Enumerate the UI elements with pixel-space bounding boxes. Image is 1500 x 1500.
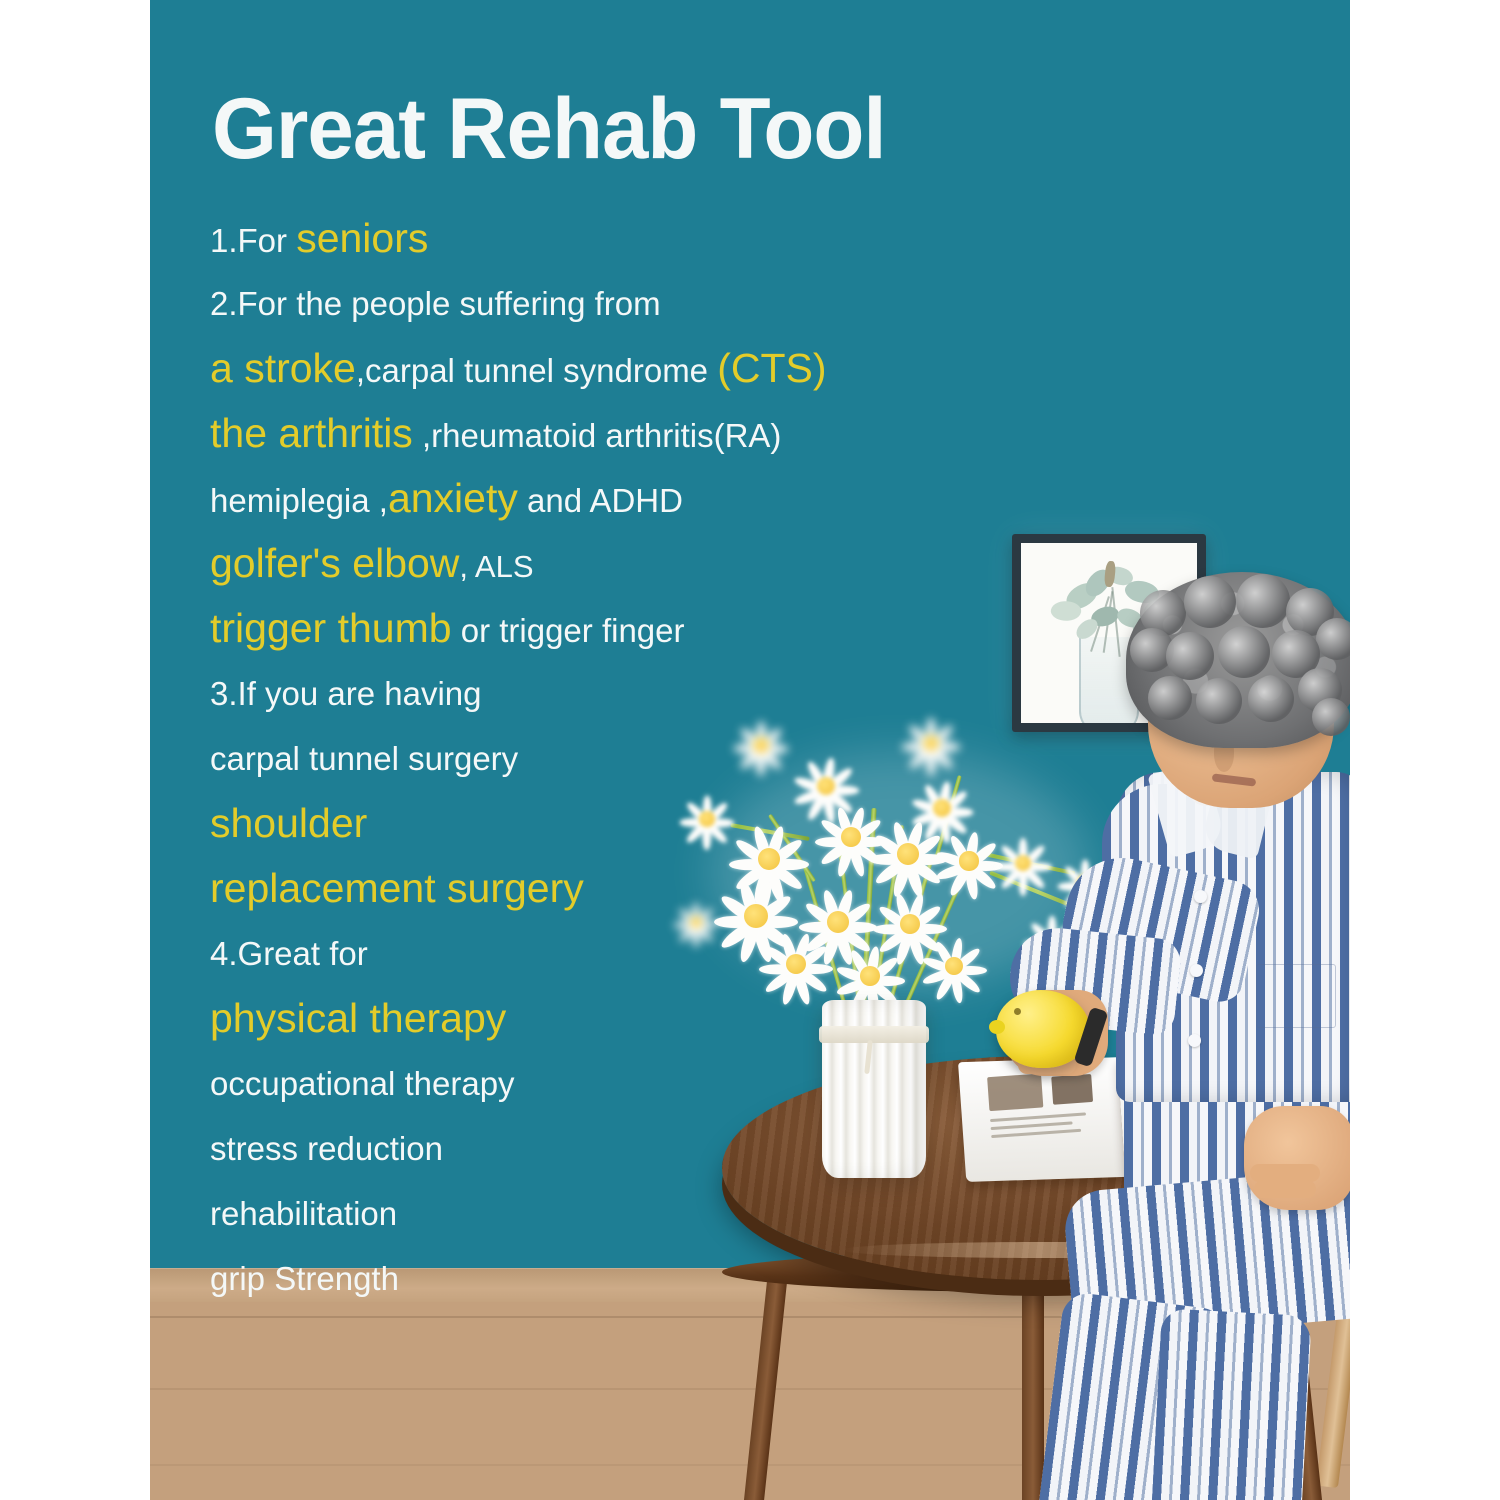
body-text: occupational therapy <box>210 1065 515 1102</box>
right-hand <box>1244 1106 1350 1210</box>
lemon-eye-dot <box>1014 1008 1021 1015</box>
white-ribbed-vase <box>822 1000 926 1178</box>
daisy <box>900 712 962 774</box>
shirt-button <box>1194 890 1207 903</box>
shirt-button <box>1190 964 1203 977</box>
body-text: or trigger finger <box>452 612 685 649</box>
line-3: a stroke,carpal tunnel syndrome (CTS) <box>210 336 990 401</box>
body-text: 2.For the people suffering from <box>210 285 661 322</box>
body-text: , ALS <box>459 549 533 584</box>
curly-gray-hair <box>1126 572 1350 748</box>
highlight-phrase: a stroke <box>210 345 356 391</box>
daisy <box>672 898 720 946</box>
body-text: ,rheumatoid arthritis(RA) <box>413 417 782 454</box>
body-text: 3.If you are having <box>210 675 482 712</box>
highlight-phrase: the arthritis <box>210 410 413 456</box>
body-text: carpal tunnel surgery <box>210 740 518 777</box>
page-title: Great Rehab Tool <box>212 86 1182 172</box>
highlight-phrase: shoulder <box>210 800 367 846</box>
daisy <box>918 930 990 1002</box>
body-text: stress reduction <box>210 1130 443 1167</box>
body-text: 4.Great for <box>210 935 368 972</box>
body-text: 1.For <box>210 222 296 259</box>
poster-canvas: Great Rehab Tool 1.For seniors2.For the … <box>0 0 1500 1500</box>
line-6: golfer's elbow, ALS <box>210 531 990 596</box>
body-text: rehabilitation <box>210 1195 397 1232</box>
highlight-phrase: replacement surgery <box>210 865 584 911</box>
highlight-phrase: anxiety <box>388 475 518 521</box>
pajama-shin <box>1146 1308 1311 1500</box>
highlight-phrase: golfer's elbow <box>210 540 459 586</box>
table-leg <box>739 1271 788 1500</box>
line-2: 2.For the people suffering from <box>210 271 990 336</box>
lemon-tip <box>989 1020 1005 1034</box>
line-1: 1.For seniors <box>210 206 990 271</box>
highlight-phrase: (CTS) <box>717 345 826 391</box>
body-text: and ADHD <box>518 482 683 519</box>
highlight-phrase: trigger thumb <box>210 605 452 651</box>
vase-fabric-tie <box>819 1026 929 1043</box>
daisy <box>756 924 836 1004</box>
body-text: hemiplegia , <box>210 482 388 519</box>
body-text: ,carpal tunnel syndrome <box>356 352 717 389</box>
line-4: the arthritis ,rheumatoid arthritis(RA) <box>210 401 990 466</box>
highlight-phrase: physical therapy <box>210 995 506 1041</box>
shirt-pocket <box>1256 964 1336 1028</box>
line-7: trigger thumb or trigger finger <box>210 596 990 661</box>
line-5: hemiplegia ,anxiety and ADHD <box>210 466 990 531</box>
shirt-button <box>1188 1034 1201 1047</box>
highlight-phrase: seniors <box>296 215 428 261</box>
daisy <box>732 716 790 774</box>
body-text: grip Strength <box>210 1260 399 1297</box>
teal-background-panel: Great Rehab Tool 1.For seniors2.For the … <box>150 0 1350 1500</box>
